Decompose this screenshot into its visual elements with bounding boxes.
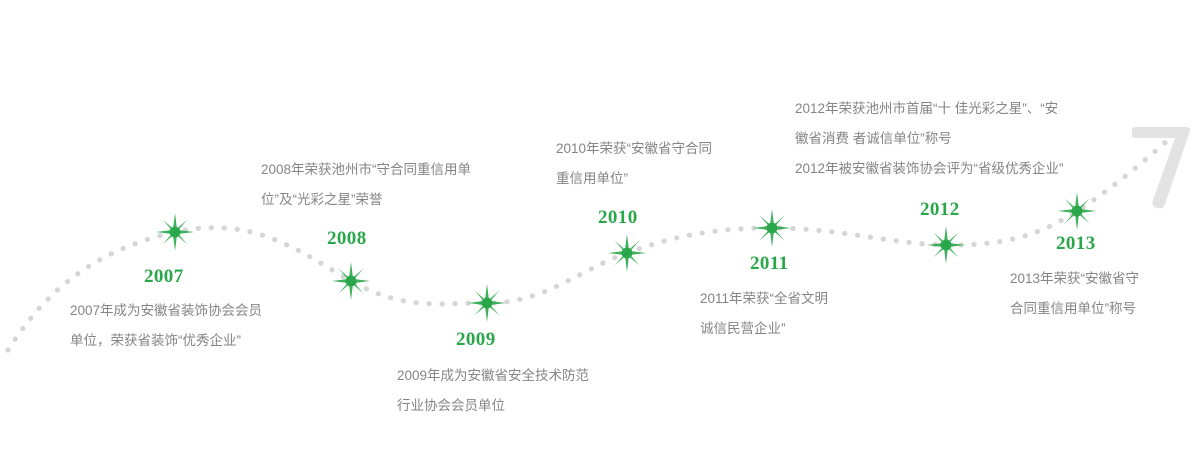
star-marker-2010-icon (607, 233, 647, 273)
star-marker-2009[interactable] (467, 283, 507, 328)
description-2012: 2012年荣获池州市首届“十 佳光彩之星”、“安徽省消费 者诚信单位”称号201… (795, 94, 1064, 184)
star-marker-2010[interactable] (607, 233, 647, 278)
year-label-2011: 2011 (750, 254, 789, 273)
description-line: 合同重信用单位”称号 (1010, 294, 1139, 324)
description-line: 位”及“光彩之星”荣誉 (261, 185, 471, 215)
description-line: 行业协会会员单位 (397, 391, 589, 421)
description-line: 2009年成为安徽省安全技术防范 (397, 361, 589, 391)
description-line: 2012年荣获池州市首届“十 佳光彩之星”、“安 (795, 94, 1064, 124)
description-line: 2008年荣获池州市“守合同重信用单 (261, 155, 471, 185)
description-line: 2013年荣获“安徽省守 (1010, 264, 1139, 294)
description-line: 重信用单位” (556, 164, 712, 194)
description-line: 2012年被安徽省装饰协会评为“省级优秀企业” (795, 154, 1064, 184)
description-line: 诚信民营企业” (700, 314, 828, 344)
description-line: 2010年荣获“安徽省守合同 (556, 134, 712, 164)
star-marker-2009-icon (467, 283, 507, 323)
star-marker-2007-icon (155, 212, 195, 252)
description-line: 徽省消费 者诚信单位”称号 (795, 124, 1064, 154)
star-marker-2012-icon (926, 225, 966, 265)
description-2011: 2011年荣获“全省文明诚信民营企业” (700, 284, 828, 344)
year-label-2010: 2010 (598, 208, 638, 227)
star-marker-2012[interactable] (926, 225, 966, 270)
description-2010: 2010年荣获“安徽省守合同重信用单位” (556, 134, 712, 194)
star-marker-2008-icon (331, 261, 371, 301)
description-2013: 2013年荣获“安徽省守合同重信用单位”称号 (1010, 264, 1139, 324)
star-marker-2011[interactable] (752, 208, 792, 253)
year-label-2013: 2013 (1056, 234, 1096, 253)
star-marker-2007[interactable] (155, 212, 195, 257)
description-line: 单位，荣获省装饰“优秀企业” (70, 326, 262, 356)
star-marker-2013[interactable] (1057, 191, 1097, 236)
star-marker-2008[interactable] (331, 261, 371, 306)
description-2007: 2007年成为安徽省装饰协会会员单位，荣获省装饰“优秀企业” (70, 296, 262, 356)
star-marker-2011-icon (752, 208, 792, 248)
description-2009: 2009年成为安徽省安全技术防范行业协会会员单位 (397, 361, 589, 421)
year-label-2009: 2009 (456, 330, 496, 349)
year-label-2012: 2012 (920, 200, 960, 219)
star-marker-2013-icon (1057, 191, 1097, 231)
year-label-2008: 2008 (327, 229, 367, 248)
timeline-infographic: 20072007年成为安徽省装饰协会会员单位，荣获省装饰“优秀企业”200820… (0, 0, 1200, 465)
description-2008: 2008年荣获池州市“守合同重信用单位”及“光彩之星”荣誉 (261, 155, 471, 215)
year-label-2007: 2007 (144, 267, 184, 286)
description-line: 2011年荣获“全省文明 (700, 284, 828, 314)
description-line: 2007年成为安徽省装饰协会会员 (70, 296, 262, 326)
